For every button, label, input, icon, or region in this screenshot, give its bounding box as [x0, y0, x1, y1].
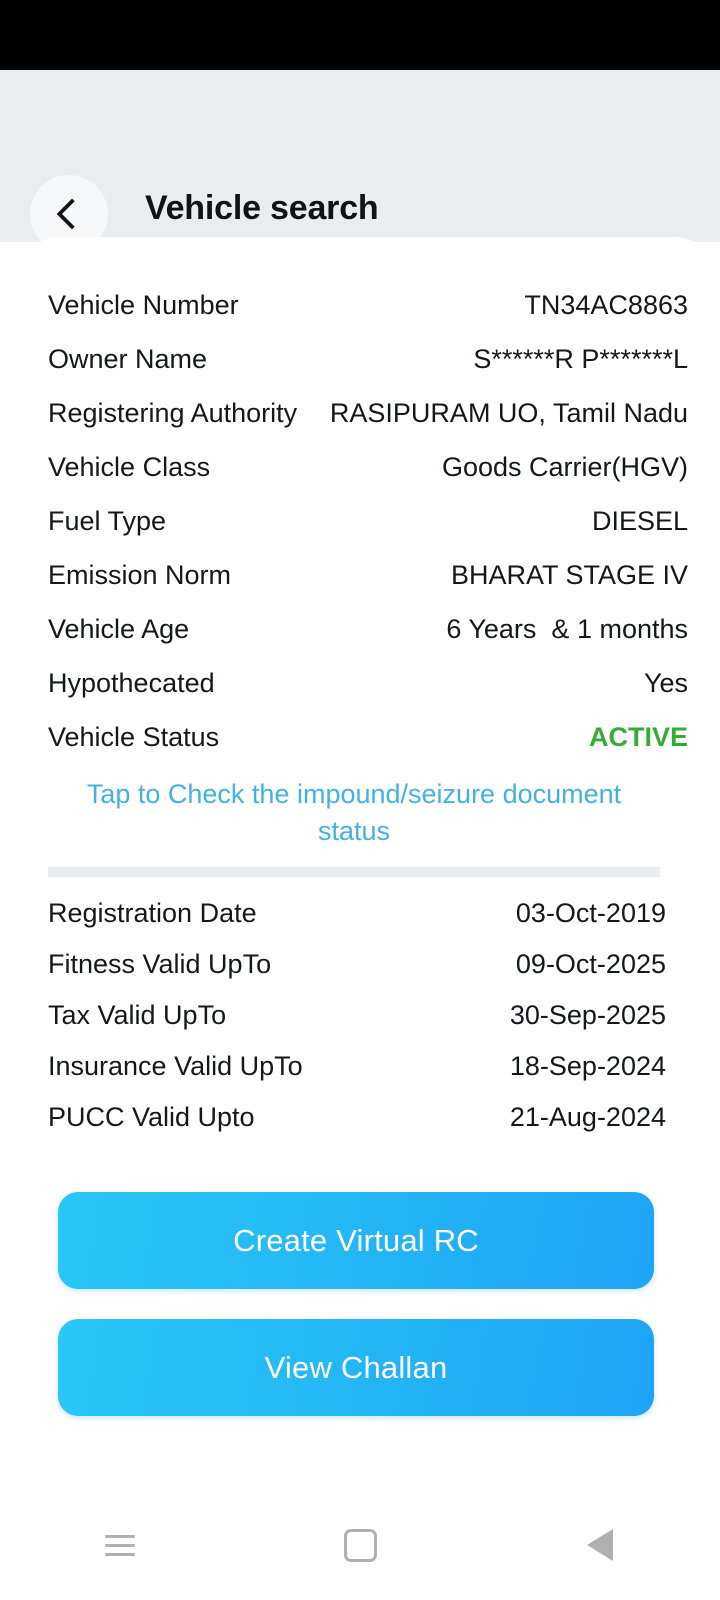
detail-row-hypothecated: Hypothecated Yes [48, 660, 688, 714]
detail-value: 6 Years & 1 months [209, 606, 688, 653]
detail-row-registering-authority: Registering Authority RASIPURAM UO, Tami… [48, 390, 688, 444]
detail-row-vehicle-status: Vehicle Status ACTIVE [48, 714, 688, 768]
detail-row-insurance-valid-upto: Insurance Valid UpTo 18-Sep-2024 [48, 1041, 666, 1092]
detail-row-vehicle-class: Vehicle Class Goods Carrier(HGV) [48, 444, 688, 498]
page-title: Vehicle search [145, 189, 378, 228]
validity-dates-list: Registration Date 03-Oct-2019 Fitness Va… [48, 888, 666, 1143]
detail-row-registration-date: Registration Date 03-Oct-2019 [48, 888, 666, 939]
detail-row-fitness-valid-upto: Fitness Valid UpTo 09-Oct-2025 [48, 939, 666, 990]
status-badge: ACTIVE [239, 714, 688, 761]
detail-row-emission-norm: Emission Norm BHARAT STAGE IV [48, 552, 688, 606]
detail-row-fuel-type: Fuel Type DIESEL [48, 498, 688, 552]
detail-value: 03-Oct-2019 [277, 888, 666, 939]
detail-label: Registration Date [48, 888, 257, 939]
detail-value: 18-Sep-2024 [323, 1041, 666, 1092]
detail-value: S******R P*******L [227, 336, 688, 383]
create-virtual-rc-button[interactable]: Create Virtual RC [58, 1192, 654, 1289]
detail-row-pucc-valid-upto: PUCC Valid Upto 21-Aug-2024 [48, 1092, 666, 1143]
detail-label: Fitness Valid UpTo [48, 939, 271, 990]
detail-row-tax-valid-upto: Tax Valid UpTo 30-Sep-2025 [48, 990, 666, 1041]
detail-value: BHARAT STAGE IV [251, 552, 688, 599]
chevron-left-icon [56, 198, 87, 229]
nav-home-button[interactable] [240, 1490, 480, 1600]
detail-label: Tax Valid UpTo [48, 990, 226, 1041]
detail-label: Hypothecated [48, 660, 215, 707]
detail-label: Fuel Type [48, 498, 166, 545]
nav-back-button[interactable] [480, 1490, 720, 1600]
detail-value: DIESEL [186, 498, 688, 545]
android-navigation-bar [0, 1490, 720, 1600]
section-divider [48, 867, 660, 877]
detail-value: 09-Oct-2025 [291, 939, 666, 990]
detail-label: PUCC Valid Upto [48, 1092, 255, 1143]
detail-value: RASIPURAM UO, Tamil Nadu [317, 390, 688, 437]
detail-value: TN34AC8863 [259, 282, 688, 329]
detail-label: Owner Name [48, 336, 207, 383]
vehicle-details-list: Vehicle Number TN34AC8863 Owner Name S**… [48, 282, 688, 1143]
detail-label: Vehicle Status [48, 714, 219, 761]
action-buttons: Create Virtual RC View Challan [58, 1192, 654, 1416]
detail-label: Registering Authority [48, 390, 297, 437]
detail-label: Vehicle Age [48, 606, 189, 653]
detail-label: Emission Norm [48, 552, 231, 599]
app-header: Vehicle search [0, 70, 720, 242]
nav-recents-button[interactable] [0, 1490, 240, 1600]
triangle-left-icon [587, 1529, 613, 1561]
detail-row-vehicle-number: Vehicle Number TN34AC8863 [48, 282, 688, 336]
detail-value: 30-Sep-2025 [246, 990, 666, 1041]
detail-value: Goods Carrier(HGV) [230, 444, 688, 491]
square-icon [344, 1529, 377, 1562]
menu-icon [105, 1535, 135, 1556]
detail-value: Yes [235, 660, 688, 707]
detail-row-owner-name: Owner Name S******R P*******L [48, 336, 688, 390]
impound-seizure-status-link[interactable]: Tap to Check the impound/seizure documen… [48, 776, 660, 850]
detail-label: Vehicle Number [48, 282, 239, 329]
status-bar [0, 0, 720, 70]
view-challan-button[interactable]: View Challan [58, 1319, 654, 1416]
detail-row-vehicle-age: Vehicle Age 6 Years & 1 months [48, 606, 688, 660]
detail-label: Insurance Valid UpTo [48, 1041, 303, 1092]
vehicle-details-card: Vehicle Number TN34AC8863 Owner Name S**… [14, 237, 720, 1600]
detail-value: 21-Aug-2024 [275, 1092, 666, 1143]
detail-label: Vehicle Class [48, 444, 210, 491]
vehicle-search-screen: Vehicle search Vehicle Number TN34AC8863… [0, 0, 720, 1600]
